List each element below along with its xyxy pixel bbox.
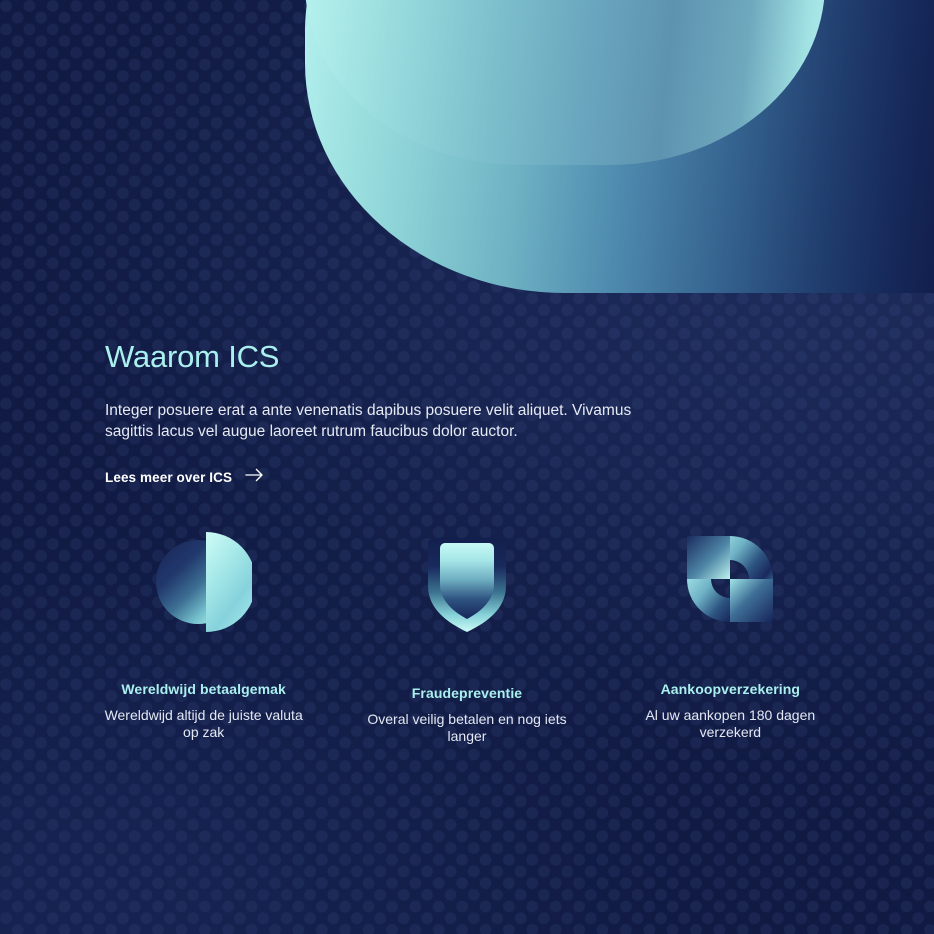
- page-title: Waarom ICS: [105, 338, 705, 376]
- intro-paragraph: Integer posuere erat a ante venenatis da…: [105, 401, 661, 442]
- feature-list: Wereldwijd betaalgemak Wereldwijd altijd…: [72, 520, 862, 745]
- feature-title: Fraudepreventie: [412, 685, 522, 701]
- split-circle-icon: [156, 520, 252, 636]
- arrow-right-icon: [245, 468, 264, 487]
- read-more-label: Lees meer over ICS: [105, 470, 232, 485]
- shield-icon: [424, 524, 510, 640]
- read-more-link[interactable]: Lees meer over ICS: [105, 468, 264, 487]
- feature-description: Wereldwijd altijd de juiste valuta op za…: [104, 707, 304, 741]
- feature-card-fraud-prevention: Fraudepreventie Overal veilig betalen en…: [335, 520, 598, 745]
- feature-description: Overal veilig betalen en nog iets langer: [367, 711, 567, 745]
- page-content: Waarom ICS Integer posuere erat a ante v…: [0, 0, 934, 934]
- feature-title: Aankoopverzekering: [661, 681, 801, 697]
- feature-card-payment-ease: Wereldwijd betaalgemak Wereldwijd altijd…: [72, 520, 335, 745]
- refresh-cycle-icon: [683, 520, 777, 636]
- feature-title: Wereldwijd betaalgemak: [121, 681, 286, 697]
- feature-description: Al uw aankopen 180 dagen verzekerd: [630, 707, 830, 741]
- feature-card-purchase-insurance: Aankoopverzekering Al uw aankopen 180 da…: [599, 520, 862, 745]
- intro-section: Waarom ICS Integer posuere erat a ante v…: [105, 338, 705, 487]
